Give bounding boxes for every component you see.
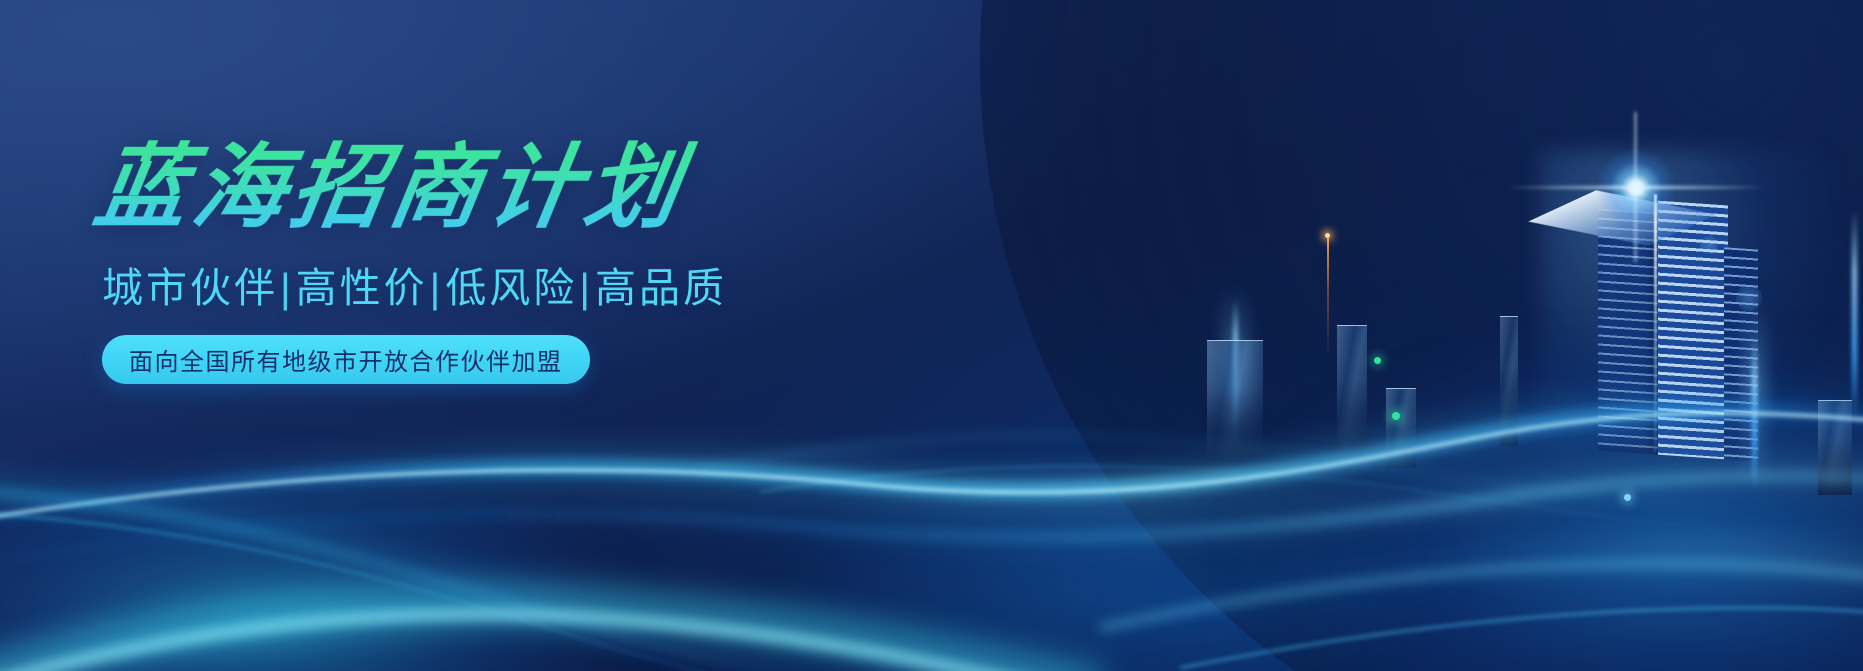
cta-pill-button[interactable]: 面向全国所有地级市开放合作伙伴加盟 <box>102 335 590 384</box>
glass-pillar-1 <box>1207 340 1263 460</box>
accent-dot-4 <box>1736 285 1762 311</box>
antenna-mast <box>1327 236 1329 356</box>
light-beam-tall-left <box>1222 286 1248 456</box>
banner-subtitle: 城市伙伴|高性价|低风险|高品质 <box>102 264 856 313</box>
light-beam-far-right <box>1852 210 1857 420</box>
accent-dot-3 <box>1624 494 1631 501</box>
accent-dot-1 <box>1392 412 1400 420</box>
flare-ray-horizontal <box>1506 186 1766 189</box>
subtitle-part-1: 城市伙伴 <box>102 265 278 311</box>
accent-dot-5 <box>1700 236 1718 254</box>
subtitle-part-2: 高性价 <box>296 265 428 311</box>
high-rise-tower-icon <box>1598 190 1758 461</box>
subtitle-separator-2: | <box>428 265 446 311</box>
glow-bottom-left <box>0 470 640 671</box>
light-beam-left <box>1233 300 1238 450</box>
light-beam-right <box>1752 338 1757 488</box>
glass-pillar-3 <box>1386 388 1416 468</box>
lens-flare-icon <box>1596 148 1676 228</box>
planet-arc <box>980 0 1863 671</box>
antenna-light-icon <box>1325 233 1330 238</box>
glow-center <box>760 470 1460 671</box>
light-beam-soft-right <box>1744 300 1766 490</box>
tower-glow <box>1540 150 1840 480</box>
subtitle-separator-1: | <box>278 265 296 311</box>
flare-ray-vertical <box>1634 112 1637 262</box>
banner-content: 蓝海招商计划 城市伙伴|高性价|低风险|高品质 面向全国所有地级市开放合作伙伴加… <box>96 140 856 384</box>
planet-body <box>980 0 1863 671</box>
subtitle-part-4: 高品质 <box>595 265 727 311</box>
glass-pillar-2 <box>1337 325 1367 460</box>
glass-pillar-4 <box>1818 400 1852 495</box>
accent-dot-2 <box>1374 357 1381 364</box>
subtitle-separator-3: | <box>577 265 595 311</box>
subtitle-part-3: 低风险 <box>445 265 577 311</box>
promo-banner: 蓝海招商计划 城市伙伴|高性价|低风险|高品质 面向全国所有地级市开放合作伙伴加… <box>0 0 1863 671</box>
glass-pillar-5 <box>1500 316 1518 446</box>
glow-bottom-right <box>1230 330 1863 671</box>
page-title: 蓝海招商计划 <box>88 140 863 238</box>
